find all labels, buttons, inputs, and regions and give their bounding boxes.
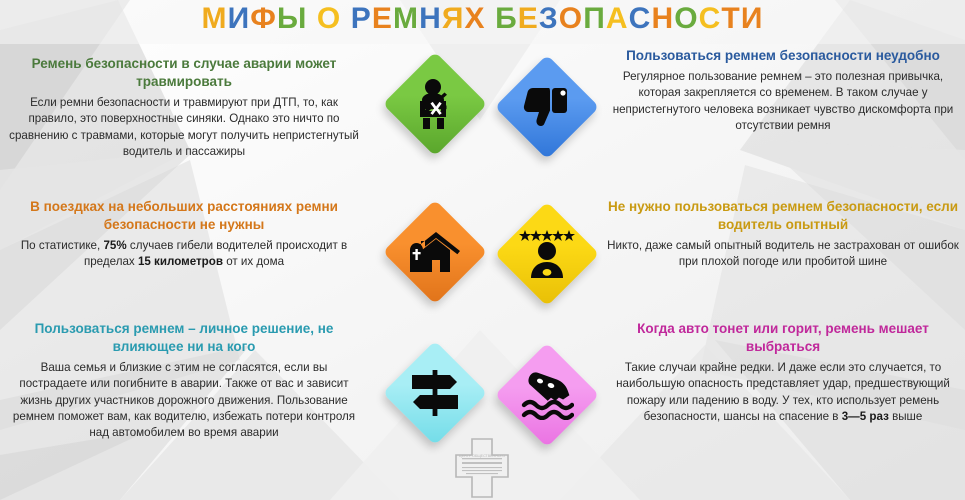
diamond-thumbs-down <box>495 55 600 160</box>
title-letter: Т <box>721 2 740 36</box>
title-letter <box>307 2 316 36</box>
myth-body: Если ремни безопасности и травмируют при… <box>8 95 360 161</box>
myth-heading: Ремень безопасности в случае аварии може… <box>8 55 360 91</box>
watermark-line1: ЦЕНТР ОБЩЕСТВЕННОГО <box>459 454 505 458</box>
myth-block-sinking-burning: Когда авто тонет или горит, ремень мешае… <box>607 320 959 425</box>
myth-body: Регулярное пользование ремнем – это поле… <box>607 69 959 135</box>
title-letter: И <box>228 2 251 36</box>
title-letter: С <box>699 2 722 36</box>
title-letter: О <box>674 2 698 36</box>
title-letter: Ф <box>250 2 277 36</box>
title-letter: З <box>539 2 559 36</box>
myth-body: По статистике, 75% случаев гибели водите… <box>8 238 360 271</box>
myth-heading: В поездках на небольших расстояниях ремн… <box>8 198 360 234</box>
title-letter <box>341 2 350 36</box>
title-letter: М <box>393 2 419 36</box>
infographic-root: МИФЫ О РЕМНЯХ БЕЗОПАСНОСТИ Ремень безопа… <box>0 0 965 500</box>
diamond-five-star-driver <box>495 202 600 307</box>
title-letter: С <box>629 2 652 36</box>
title-letter: А <box>606 2 629 36</box>
title-letter: Р <box>351 2 372 36</box>
person-seatbelt-icon <box>398 67 472 141</box>
myth-block-short-trips: В поездках на небольших расстояниях ремн… <box>8 198 360 271</box>
diamond-person-seatbelt <box>383 52 488 157</box>
title-letter: Ы <box>277 2 307 36</box>
title-letter: Е <box>518 2 539 36</box>
title-letter: М <box>201 2 227 36</box>
title-letter <box>486 2 495 36</box>
title-letter: Н <box>419 2 442 36</box>
myth-heading: Не нужно пользоваться ремнем безопасност… <box>607 198 959 234</box>
thumbs-down-icon <box>510 70 584 144</box>
diamond-signpost <box>383 341 488 446</box>
title-letter: Я <box>442 2 465 36</box>
car-into-water-icon <box>510 358 584 432</box>
title-letter: Б <box>495 2 518 36</box>
title-letter: Х <box>465 2 486 36</box>
myth-heading: Пользоваться ремнем безопасности неудобн… <box>607 47 959 65</box>
five-star-driver-icon <box>510 217 584 291</box>
myth-body: Ваша семья и близкие с этим не согласятс… <box>8 360 360 442</box>
title-letter: Н <box>651 2 674 36</box>
myth-block-uncomfortable: Пользоваться ремнем безопасности неудобн… <box>607 47 959 135</box>
myth-block-personal-choice: Пользоваться ремнем – личное решение, не… <box>8 320 360 442</box>
health-cross-logo: ЦЕНТР ОБЩЕСТВЕННОГО <box>446 437 518 499</box>
diamond-house-grave <box>383 200 488 305</box>
title-letter: О <box>317 2 341 36</box>
myth-block-experienced-driver: Не нужно пользоваться ремнем безопасност… <box>607 198 959 271</box>
signpost-icon <box>398 356 472 430</box>
myth-body: Никто, даже самый опытный водитель не за… <box>607 238 959 271</box>
house-grave-icon <box>398 215 472 289</box>
myth-block-injury: Ремень безопасности в случае аварии може… <box>8 55 360 160</box>
title-letter: П <box>583 2 606 36</box>
myth-heading: Когда авто тонет или горит, ремень мешае… <box>607 320 959 356</box>
title-letter: О <box>559 2 583 36</box>
title-letter: Е <box>372 2 393 36</box>
myth-body: Такие случаи крайне редки. И даже если э… <box>607 360 959 426</box>
title-letter: И <box>741 2 764 36</box>
page-title: МИФЫ О РЕМНЯХ БЕЗОПАСНОСТИ <box>0 2 965 36</box>
diamond-car-into-water <box>495 343 600 448</box>
myth-heading: Пользоваться ремнем – личное решение, не… <box>8 320 360 356</box>
